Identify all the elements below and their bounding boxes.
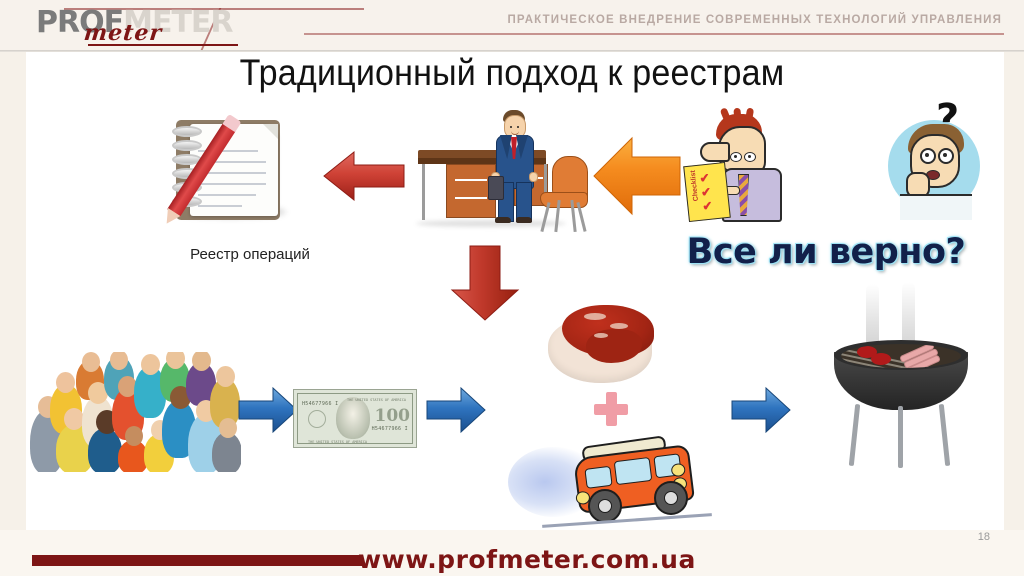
businessman-shoe xyxy=(516,217,532,223)
van-icon xyxy=(508,437,712,533)
van-window xyxy=(614,457,653,485)
question-headline: Все ли верно? xyxy=(676,232,976,272)
desk-scene xyxy=(410,108,590,234)
checklist-checkmark: ✔ xyxy=(702,200,714,212)
steak-marbling xyxy=(610,323,628,329)
arrow-right-icon xyxy=(425,385,487,435)
businessman-leg xyxy=(516,182,532,222)
van-wheel-hub xyxy=(664,491,678,505)
slide-footer: 18 www.profmeter.com.ua xyxy=(0,530,1024,576)
grill-patty xyxy=(871,353,891,365)
confused-person-pupil xyxy=(943,153,947,157)
arrow-right-icon xyxy=(237,385,299,435)
chair-icon xyxy=(538,156,590,232)
notebook-caption: Реестр операций xyxy=(150,246,350,263)
accountant-hair-spike xyxy=(720,107,732,123)
header-tagline: ПРАКТИЧЕСКОЕ ВНЕДРЕНИЕ СОВРЕМЕННЫХ ТЕХНО… xyxy=(507,14,1002,26)
van-wheel-hub xyxy=(598,499,612,513)
frame-left-edge xyxy=(0,0,26,576)
desk-drawer-line xyxy=(455,197,487,199)
footer-accent-bar xyxy=(32,555,362,566)
notebook-spiral-ring xyxy=(172,126,202,137)
van-window xyxy=(584,466,612,489)
accountant-hair-spike xyxy=(733,108,741,123)
confused-person-icon: ? xyxy=(878,98,994,218)
frame-right-edge xyxy=(1004,0,1024,576)
arrow-right-icon xyxy=(730,385,792,435)
accountant-hair-spike xyxy=(745,107,754,122)
van-headlight xyxy=(670,463,685,478)
steak-marbling xyxy=(584,313,606,320)
crowd-person-head xyxy=(216,366,235,387)
slide-root: PROFMETER meter ПРАКТИЧЕСКОЕ ВНЕДРЕНИЕ С… xyxy=(0,0,1024,576)
plus-symbol-icon xyxy=(594,392,628,426)
crowd-person-head xyxy=(125,426,143,446)
footer-website-url[interactable]: www.profmeter.com.ua xyxy=(358,545,696,574)
businessman-icon xyxy=(492,110,536,226)
briefcase-icon xyxy=(488,176,504,200)
dollar-bill-icon: 100 H54677966 I H54677966 I THE UNITED S… xyxy=(293,389,417,448)
dollar-microtext: THE UNITED STATES OF AMERICA xyxy=(308,440,367,444)
desk-leg xyxy=(422,164,425,196)
checklist-card: Checklist ✔ ✔ ✔ xyxy=(683,162,731,222)
crowd-person xyxy=(212,432,241,472)
notebook-rule-line xyxy=(198,205,242,207)
accountant-nose xyxy=(700,142,730,162)
arrow-left-icon xyxy=(322,148,406,204)
businessman-hand xyxy=(529,172,538,182)
accountant-shirt xyxy=(722,168,782,222)
dollar-portrait xyxy=(336,397,370,439)
dollar-seal xyxy=(308,410,326,428)
bbq-grill-icon xyxy=(828,282,978,470)
crowd-person-head xyxy=(141,354,160,375)
slide-title: Традиционный подход к реестрам xyxy=(41,52,983,94)
checklist-checkmark: ✔ xyxy=(701,187,713,199)
arrow-down-icon xyxy=(448,244,522,322)
arrow-left-orange-icon xyxy=(592,135,682,217)
confused-person-pupil xyxy=(925,153,929,157)
accountant-pupil xyxy=(748,155,751,158)
notebook-page-fold xyxy=(263,124,278,139)
plus-vertical-bar xyxy=(606,392,617,426)
logo-script-underline xyxy=(88,44,238,46)
confused-person-body xyxy=(900,194,972,220)
crowd-person-head xyxy=(82,352,100,372)
businessman-eye xyxy=(510,126,512,128)
logo-script-text: meter xyxy=(83,20,164,46)
checklist-checkmark: ✔ xyxy=(699,173,711,185)
crowd-person-head xyxy=(219,418,237,438)
notebook-rule-line xyxy=(198,194,256,196)
dollar-serial-number: H54677966 I xyxy=(372,426,408,432)
van-wheel xyxy=(654,481,688,515)
slide-header: PROFMETER meter ПРАКТИЧЕСКОЕ ВНЕДРЕНИЕ С… xyxy=(0,0,1024,52)
desk-leg xyxy=(422,194,425,220)
desk-drawer-line xyxy=(455,179,487,181)
crowd-person-head xyxy=(56,372,75,393)
dollar-denomination: 100 xyxy=(375,406,411,426)
van-wheel xyxy=(588,489,622,523)
accountant-pupil xyxy=(734,155,737,158)
crowd-person-head xyxy=(64,408,84,430)
crowd-photo xyxy=(26,352,241,472)
businessman-eye xyxy=(517,126,519,128)
slide-number: 18 xyxy=(978,531,990,543)
grill-grate xyxy=(841,344,961,368)
grill-leg xyxy=(849,404,860,466)
header-tagline-rule xyxy=(304,33,1004,35)
notebook-icon xyxy=(160,112,300,232)
dollar-microtext: THE UNITED STATES OF AMERICA xyxy=(347,398,406,402)
businessman-shoe xyxy=(495,217,511,223)
accountant-icon: Checklist ✔ ✔ ✔ xyxy=(682,112,804,230)
steak-marbling xyxy=(594,333,608,338)
grill-leg xyxy=(939,404,950,466)
dollar-serial-number: H54677966 I xyxy=(302,401,338,407)
notebook-spiral-ring xyxy=(172,140,202,151)
grill-leg xyxy=(898,406,903,468)
notebook-rule-line xyxy=(198,183,266,185)
steak-icon xyxy=(548,303,658,385)
